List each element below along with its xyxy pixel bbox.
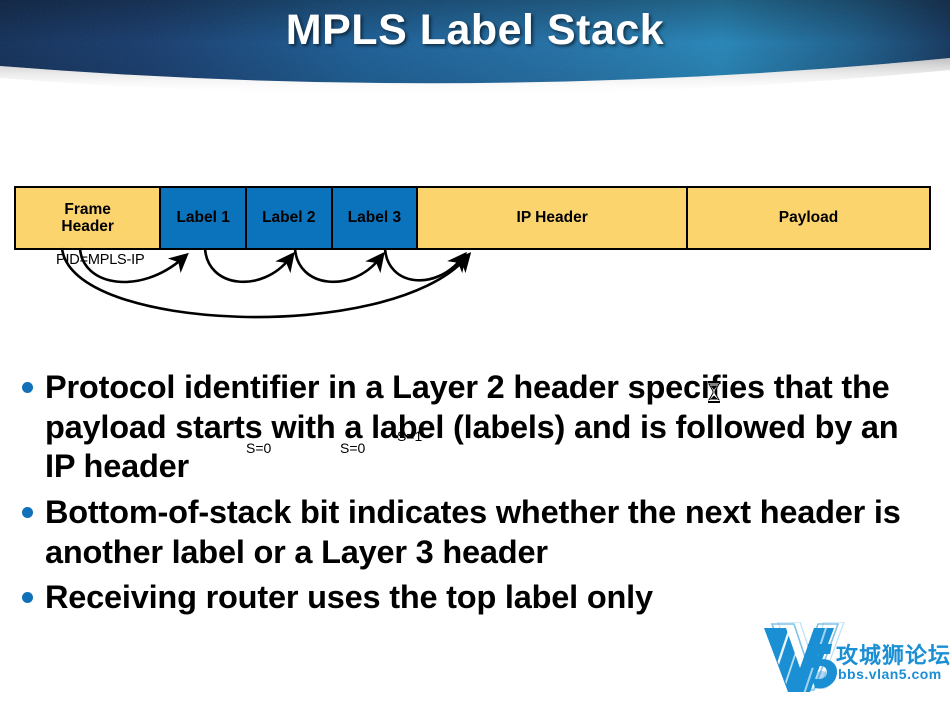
bullet-text-3: Receiving router uses the top label only: [45, 578, 653, 618]
slide-header-banner: MPLS Label Stack: [0, 0, 950, 96]
packet-cell-label-1: Label 1: [161, 188, 247, 248]
packet-cell-label-3: Label 3: [333, 188, 419, 248]
annotation-pid: PID=MPLS-IP: [56, 252, 144, 268]
slide-bullet-list: Protocol identifier in a Layer 2 header …: [0, 368, 950, 624]
list-item: Receiving router uses the top label only: [0, 578, 950, 618]
arrow-label2-to-label3: [295, 248, 380, 282]
arrow-label1-to-label2: [205, 248, 290, 282]
list-item: Protocol identifier in a Layer 2 header …: [0, 368, 950, 487]
bullet-text-1: Protocol identifier in a Layer 2 header …: [45, 368, 903, 487]
packet-cell-label-2: Label 2: [247, 188, 333, 248]
watermark-forum-name: 攻城狮论坛: [836, 638, 950, 670]
packet-cell-ip-header: IP Header: [418, 188, 688, 248]
bullet-text-2: Bottom-of-stack bit indicates whether th…: [45, 493, 903, 572]
v5-logo-icon: [758, 622, 950, 696]
bullet-dot-icon: [22, 507, 33, 518]
arrow-label3-to-ipheader: [385, 248, 462, 280]
bullet-dot-icon: [22, 382, 33, 393]
forum-watermark: 攻城狮论坛 bbs.vlan5.com: [758, 622, 950, 696]
list-item: Bottom-of-stack bit indicates whether th…: [0, 493, 950, 572]
page-title: MPLS Label Stack: [0, 6, 950, 55]
bullet-dot-icon: [22, 592, 33, 603]
packet-cell-frame-header: Frame Header: [16, 188, 161, 248]
watermark-url: bbs.vlan5.com: [838, 666, 942, 682]
packet-cell-payload: Payload: [688, 188, 929, 248]
packet-format-strip: Frame Header Label 1 Label 2 Label 3 IP …: [14, 186, 931, 250]
mpls-label-stack-diagram: Frame Header Label 1 Label 2 Label 3 IP …: [0, 150, 950, 360]
